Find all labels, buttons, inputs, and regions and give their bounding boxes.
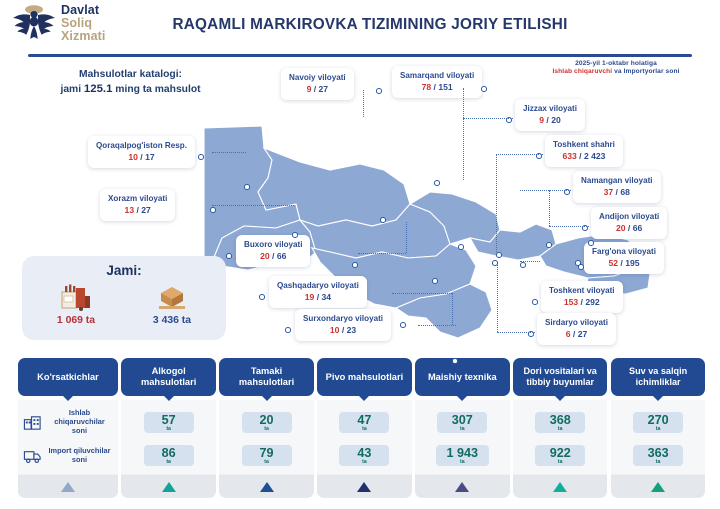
value-pill: 43ta bbox=[339, 445, 389, 466]
table-row: 1 943ta bbox=[415, 439, 510, 472]
region-callout[interactable]: Toshkent viloyati153 / 292 bbox=[541, 281, 623, 313]
map-dot-buxoro bbox=[352, 262, 358, 268]
region-callout[interactable]: Farg'ona viloyati52 / 195 bbox=[584, 242, 664, 274]
region-producers: 153 bbox=[564, 297, 578, 307]
region-callout[interactable]: Namangan viloyati37 / 68 bbox=[573, 171, 661, 203]
region-separator: / bbox=[626, 223, 633, 233]
region-name: Farg'ona viloyati bbox=[592, 247, 656, 257]
leader-line bbox=[452, 293, 453, 325]
region-values: 6 / 27 bbox=[545, 329, 608, 340]
logo-line-3: Xizmati bbox=[61, 30, 105, 43]
row-label: Import qiluvchilar soni bbox=[46, 447, 113, 465]
totals-products: 3 436 ta bbox=[141, 281, 203, 326]
map-dot-karakalpakstan bbox=[244, 184, 250, 190]
leader-line bbox=[212, 152, 246, 153]
column-body: 270ta363ta bbox=[611, 400, 706, 498]
unit-label: ta bbox=[155, 460, 183, 465]
callout-anchor-dot bbox=[259, 294, 265, 300]
region-callout[interactable]: Toshkent shahri633 / 2 423 bbox=[545, 135, 623, 167]
column-body: 20ta79ta bbox=[219, 400, 314, 498]
header-notch-icon bbox=[358, 395, 370, 401]
table-column-3: Pivo mahsulotlari47ta43ta bbox=[317, 358, 412, 498]
region-name: Buxoro viloyati bbox=[244, 240, 302, 250]
region-importers: 20 bbox=[551, 115, 561, 125]
column-accent-triangle-icon bbox=[357, 482, 371, 492]
unit-label: ta bbox=[644, 460, 672, 465]
region-callout[interactable]: Samarqand viloyati78 / 151 bbox=[392, 66, 482, 98]
leader-line bbox=[496, 154, 543, 155]
column-header[interactable]: Alkogol mahsulotlari bbox=[121, 358, 216, 396]
indicators-table: Ko'rsatkichlar Ishlab chiqaruvchilar son… bbox=[18, 358, 704, 498]
value-pill: 363ta bbox=[633, 445, 683, 466]
callout-anchor-dot bbox=[481, 86, 487, 92]
map-dot-toshkent-shahri bbox=[496, 252, 502, 258]
totals-products-value: 3 436 ta bbox=[141, 315, 203, 326]
region-importers: 68 bbox=[620, 187, 630, 197]
region-producers: 78 bbox=[422, 82, 432, 92]
leader-line bbox=[212, 205, 294, 206]
column-header-label: Alkogol mahsulotlari bbox=[125, 366, 212, 388]
value-pill: 270ta bbox=[633, 412, 683, 433]
region-name: Andijon viloyati bbox=[599, 212, 659, 222]
leader-line bbox=[549, 226, 589, 227]
region-importers: 27 bbox=[319, 84, 329, 94]
region-separator: / bbox=[270, 251, 277, 261]
unit-label: ta bbox=[448, 427, 476, 432]
callout-anchor-dot bbox=[198, 154, 204, 160]
value-pill: 922ta bbox=[535, 445, 585, 466]
unit-label: ta bbox=[546, 460, 574, 465]
region-values: 20 / 66 bbox=[244, 251, 302, 262]
leader-line bbox=[392, 293, 452, 294]
region-separator: / bbox=[577, 151, 584, 161]
table-row: 86ta bbox=[121, 439, 216, 472]
region-name: Navoiy viloyati bbox=[289, 73, 346, 83]
region-importers: 27 bbox=[578, 329, 588, 339]
header-notch-icon bbox=[456, 395, 468, 401]
column-header[interactable]: Ko'rsatkichlar bbox=[18, 358, 118, 396]
map-dot-toshkent-viloyati bbox=[520, 262, 526, 268]
import-truck-icon bbox=[23, 446, 42, 465]
map-dot-surxondaryo bbox=[452, 358, 458, 364]
map-dot-navoiy bbox=[380, 217, 386, 223]
region-producers: 10 bbox=[128, 152, 138, 162]
totals-producers: 1 069 ta bbox=[45, 281, 107, 326]
map-dot-xorazm bbox=[292, 232, 298, 238]
region-name: Qashqadaryo viloyati bbox=[277, 281, 359, 291]
region-callout[interactable]: Sirdaryo viloyati6 / 27 bbox=[537, 313, 616, 345]
unit-label: ta bbox=[350, 427, 378, 432]
unit-label: ta bbox=[546, 427, 574, 432]
callout-anchor-dot bbox=[532, 299, 538, 305]
column-header-label: Dori vositalari va tibbiy buyumlar bbox=[517, 366, 604, 387]
unit-label: ta bbox=[253, 427, 281, 432]
header-notch-icon bbox=[554, 395, 566, 401]
leader-line bbox=[497, 262, 498, 332]
column-accent-triangle-icon bbox=[260, 482, 274, 492]
value-pill: 47ta bbox=[339, 412, 389, 433]
column-header[interactable]: Dori vositalari va tibbiy buyumlar bbox=[513, 358, 608, 396]
leader-line bbox=[463, 118, 513, 119]
table-row: 57ta bbox=[121, 406, 216, 439]
leader-line bbox=[520, 190, 571, 191]
table-column-6: Suv va salqin ichimliklar270ta363ta bbox=[611, 358, 706, 498]
leader-line bbox=[418, 325, 456, 326]
header-notch-icon bbox=[62, 395, 74, 401]
region-producers: 20 bbox=[260, 251, 270, 261]
column-header[interactable]: Tamaki mahsulotlari bbox=[219, 358, 314, 396]
column-body: 47ta43ta bbox=[317, 400, 412, 498]
column-body: 57ta86ta bbox=[121, 400, 216, 498]
header-notch-icon bbox=[261, 395, 273, 401]
region-name: Xorazm viloyati bbox=[108, 194, 167, 204]
leader-line bbox=[549, 190, 550, 226]
value-pill: 86ta bbox=[144, 445, 194, 466]
unit-label: ta bbox=[447, 460, 479, 465]
column-accent-triangle-icon bbox=[651, 482, 665, 492]
region-callout[interactable]: Qashqadaryo viloyati19 / 34 bbox=[269, 276, 367, 308]
value-pill: 79ta bbox=[242, 445, 292, 466]
callout-anchor-dot bbox=[285, 327, 291, 333]
package-pallet-icon bbox=[141, 281, 203, 313]
region-values: 9 / 20 bbox=[523, 115, 577, 126]
region-producers: 20 bbox=[616, 223, 626, 233]
map-dot-namangan bbox=[546, 242, 552, 248]
column-header-label: Suv va salqin ichimliklar bbox=[615, 366, 702, 387]
table-row: 368ta bbox=[513, 406, 608, 439]
factory-icon bbox=[45, 281, 107, 313]
map-dot-andijon bbox=[588, 240, 594, 246]
leader-line bbox=[363, 90, 364, 117]
region-separator: / bbox=[339, 325, 346, 335]
region-values: 20 / 66 bbox=[599, 223, 659, 234]
column-body: Ishlab chiqaruvchilar soni Import qiluvc… bbox=[18, 400, 118, 498]
header-notch-icon bbox=[652, 395, 664, 401]
value-pill: 1 943ta bbox=[436, 445, 490, 466]
table-column-indicators: Ko'rsatkichlar Ishlab chiqaruvchilar son… bbox=[18, 358, 118, 498]
callout-anchor-dot bbox=[376, 88, 382, 94]
region-importers: 151 bbox=[438, 82, 452, 92]
column-header[interactable]: Suv va salqin ichimliklar bbox=[611, 358, 706, 396]
region-importers: 23 bbox=[347, 325, 357, 335]
region-importers: 292 bbox=[585, 297, 599, 307]
unit-label: ta bbox=[253, 460, 281, 465]
logo-line-2: Soliq bbox=[61, 17, 105, 30]
page-title: RAQAMLI MARKIROVKA TIZIMINING JORIY ETIL… bbox=[150, 16, 590, 34]
map-dot-sirdaryo bbox=[492, 260, 498, 266]
eagle-emblem-icon bbox=[12, 4, 56, 42]
region-importers: 27 bbox=[141, 205, 151, 215]
table-data-columns: Alkogol mahsulotlari57ta86taTamaki mahsu… bbox=[121, 358, 705, 498]
region-importers: 17 bbox=[145, 152, 155, 162]
header-notch-icon bbox=[163, 395, 175, 401]
region-values: 633 / 2 423 bbox=[553, 151, 615, 162]
region-producers: 10 bbox=[330, 325, 340, 335]
region-values: 10 / 23 bbox=[303, 325, 383, 336]
table-row: 270ta bbox=[611, 406, 706, 439]
column-header[interactable]: Maishiy texnika bbox=[415, 358, 510, 396]
map-dot-samarqand-2 bbox=[432, 278, 438, 284]
logo: Davlat Soliq Xizmati bbox=[12, 4, 105, 42]
region-producers: 37 bbox=[604, 187, 614, 197]
region-callout[interactable]: Surxondaryo viloyati10 / 23 bbox=[295, 309, 391, 341]
leader-line bbox=[496, 154, 497, 252]
column-header-label: Maishiy texnika bbox=[428, 372, 497, 383]
region-name: Samarqand viloyati bbox=[400, 71, 474, 81]
region-importers: 195 bbox=[625, 258, 639, 268]
totals-title: Jami: bbox=[22, 263, 226, 278]
table-column-2: Tamaki mahsulotlari20ta79ta bbox=[219, 358, 314, 498]
column-accent-triangle-icon bbox=[61, 482, 75, 492]
region-values: 153 / 292 bbox=[549, 297, 615, 308]
unit-label: ta bbox=[155, 427, 183, 432]
infographic-page: Davlat Soliq Xizmati RAQAMLI MARKIROVKA … bbox=[0, 0, 720, 509]
table-row: 922ta bbox=[513, 439, 608, 472]
column-body: 368ta922ta bbox=[513, 400, 608, 498]
region-separator: / bbox=[138, 152, 145, 162]
region-values: 37 / 68 bbox=[581, 187, 653, 198]
region-importers: 34 bbox=[322, 292, 332, 302]
region-values: 52 / 195 bbox=[592, 258, 656, 269]
region-callout[interactable]: Xorazm viloyati13 / 27 bbox=[100, 189, 175, 221]
table-row: Ishlab chiqaruvchilar soni bbox=[18, 406, 118, 439]
region-producers: 52 bbox=[608, 258, 618, 268]
table-column-1: Alkogol mahsulotlari57ta86ta bbox=[121, 358, 216, 498]
region-separator: / bbox=[314, 292, 321, 302]
region-name: Jizzax viloyati bbox=[523, 104, 577, 114]
value-pill: 20ta bbox=[242, 412, 292, 433]
leader-line bbox=[358, 253, 406, 254]
table-row: 307ta bbox=[415, 406, 510, 439]
callout-anchor-dot bbox=[226, 253, 232, 259]
leader-line bbox=[497, 332, 535, 333]
totals-card: Jami: 1 069 ta bbox=[22, 256, 226, 340]
leader-line bbox=[406, 222, 407, 253]
map-dot-jizzax bbox=[458, 244, 464, 250]
region-name: Surxondaryo viloyati bbox=[303, 314, 383, 324]
region-values: 9 / 27 bbox=[289, 84, 346, 95]
row-label: Ishlab chiqaruvchilar soni bbox=[46, 409, 113, 436]
region-producers: 633 bbox=[562, 151, 576, 161]
region-callout[interactable]: Qoraqalpog'iston Resp.10 / 17 bbox=[88, 136, 195, 168]
region-callout[interactable]: Andijon viloyati20 / 66 bbox=[591, 207, 667, 239]
column-accent-triangle-icon bbox=[553, 482, 567, 492]
value-pill: 57ta bbox=[144, 412, 194, 433]
column-body: 307ta1 943ta bbox=[415, 400, 510, 498]
table-row: 363ta bbox=[611, 439, 706, 472]
region-producers: 13 bbox=[125, 205, 135, 215]
region-importers: 2 423 bbox=[584, 151, 606, 161]
region-importers: 66 bbox=[633, 223, 643, 233]
region-name: Toshkent shahri bbox=[553, 140, 615, 150]
region-values: 13 / 27 bbox=[108, 205, 167, 216]
region-callout[interactable]: Buxoro viloyati20 / 66 bbox=[236, 235, 310, 267]
callout-anchor-dot bbox=[210, 207, 216, 213]
table-row: Import qiluvchilar soni bbox=[18, 439, 118, 472]
region-producers: 19 bbox=[305, 292, 315, 302]
map-dot-samarqand bbox=[434, 180, 440, 186]
table-column-5: Dori vositalari va tibbiy buyumlar368ta9… bbox=[513, 358, 608, 498]
region-importers: 66 bbox=[277, 251, 287, 261]
region-separator: / bbox=[571, 329, 578, 339]
region-values: 10 / 17 bbox=[96, 152, 187, 163]
region-name: Qoraqalpog'iston Resp. bbox=[96, 141, 187, 151]
map-dot-qashqadaryo bbox=[400, 322, 406, 328]
column-accent-triangle-icon bbox=[162, 482, 176, 492]
column-header-label: Ko'rsatkichlar bbox=[37, 372, 99, 383]
page-header: Davlat Soliq Xizmati RAQAMLI MARKIROVKA … bbox=[0, 0, 720, 50]
table-row: 20ta bbox=[219, 406, 314, 439]
logo-line-1: Davlat bbox=[61, 4, 105, 17]
table-row: 47ta bbox=[317, 406, 412, 439]
map-dot-fargona bbox=[578, 264, 584, 270]
factory-building-icon bbox=[23, 413, 42, 432]
region-callout[interactable]: Jizzax viloyati9 / 20 bbox=[515, 99, 585, 131]
table-row: 43ta bbox=[317, 439, 412, 472]
unit-label: ta bbox=[644, 427, 672, 432]
column-header-label: Pivo mahsulotlari bbox=[326, 372, 404, 383]
value-pill: 368ta bbox=[535, 412, 585, 433]
value-pill: 307ta bbox=[437, 412, 487, 433]
region-callout[interactable]: Navoiy viloyati9 / 27 bbox=[281, 68, 354, 100]
leader-line bbox=[463, 88, 464, 180]
column-header-label: Tamaki mahsulotlari bbox=[223, 366, 310, 388]
region-name: Namangan viloyati bbox=[581, 176, 653, 186]
table-row: 79ta bbox=[219, 439, 314, 472]
region-name: Sirdaryo viloyati bbox=[545, 318, 608, 328]
table-column-4: Maishiy texnika307ta1 943ta bbox=[415, 358, 510, 498]
column-header[interactable]: Pivo mahsulotlari bbox=[317, 358, 412, 396]
region-values: 19 / 34 bbox=[277, 292, 359, 303]
totals-producers-value: 1 069 ta bbox=[45, 315, 107, 326]
logo-text: Davlat Soliq Xizmati bbox=[61, 4, 105, 42]
column-accent-triangle-icon bbox=[455, 482, 469, 492]
region-name: Toshkent viloyati bbox=[549, 286, 615, 296]
unit-label: ta bbox=[350, 460, 378, 465]
region-separator: / bbox=[311, 84, 318, 94]
